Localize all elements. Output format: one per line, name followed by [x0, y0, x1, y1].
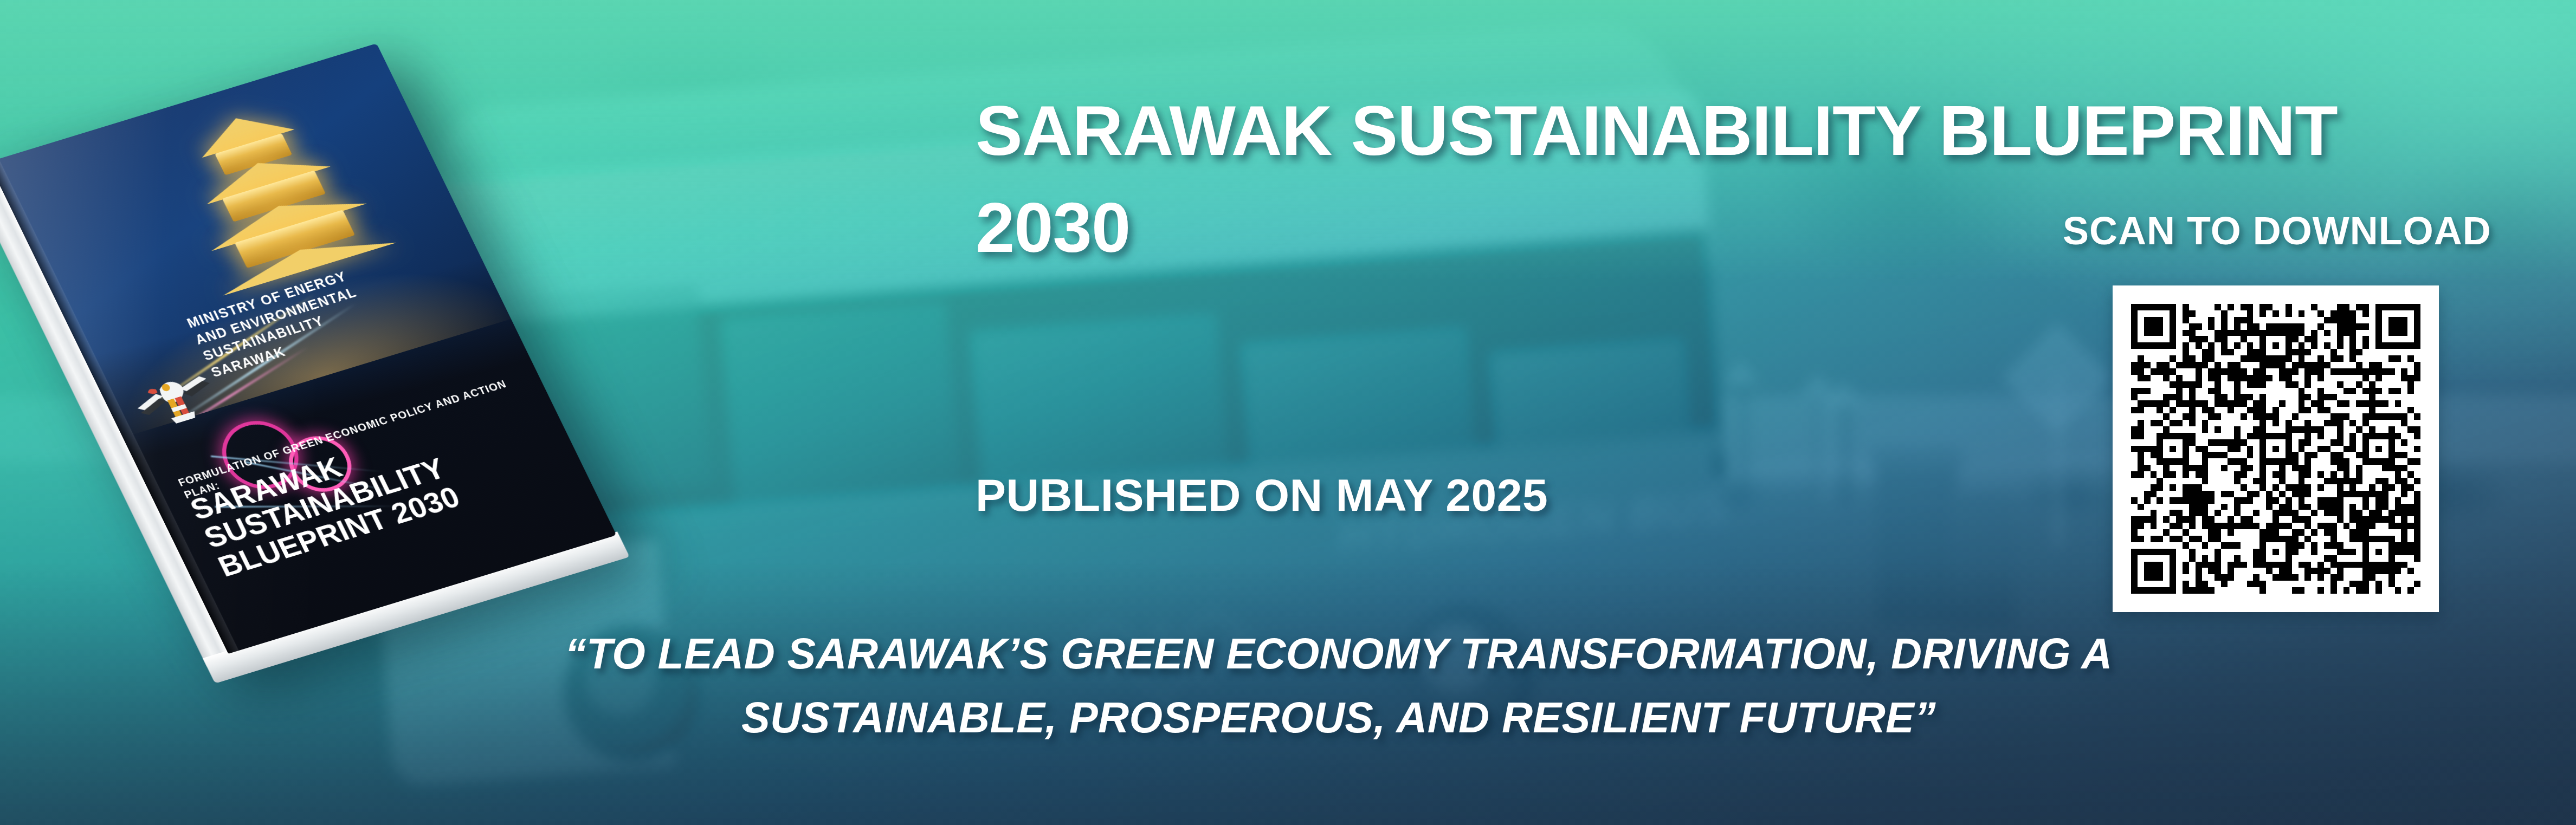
- vision-quote: “TO LEAD SARAWAK’S GREEN ECONOMY TRANSFO…: [412, 622, 2265, 749]
- quote-line-2: SUSTAINABLE, PROSPEROUS, AND RESILIENT F…: [412, 686, 2265, 750]
- cover-gloss: [0, 43, 617, 654]
- scan-to-download-label: SCAN TO DOWNLOAD: [2063, 209, 2491, 253]
- sarawak-blueprint-banner: ZERO EMISSION OH OH H HYD: [0, 0, 2576, 825]
- qr-code-download[interactable]: [2113, 285, 2439, 612]
- published-date: PUBLISHED ON MAY 2025: [976, 469, 1548, 522]
- headline-line-1: SARAWAK SUSTAINABILITY BLUEPRINT: [976, 82, 2363, 179]
- qr-code-image[interactable]: [2131, 304, 2420, 594]
- quote-line-1: “TO LEAD SARAWAK’S GREEN ECONOMY TRANSFO…: [412, 622, 2265, 686]
- book-front-cover: MINISTRY OF ENERGY AND ENVIRONMENTAL SUS…: [0, 43, 617, 654]
- book-3d: MINISTRY OF ENERGY AND ENVIRONMENTAL SUS…: [0, 40, 629, 659]
